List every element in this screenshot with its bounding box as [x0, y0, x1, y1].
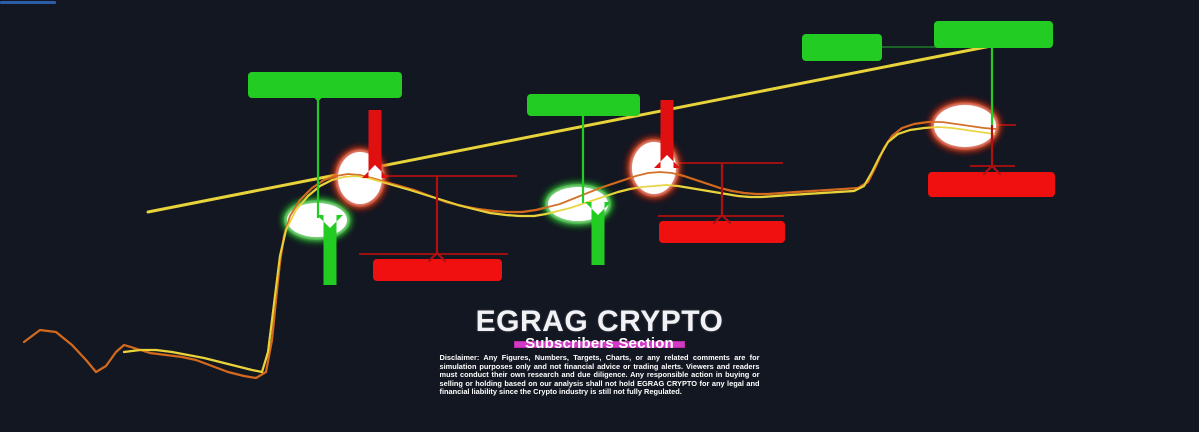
price-line-overlay-price [24, 122, 996, 378]
red-stop-box-1 [373, 259, 502, 281]
chart-canvas: EGRAG CRYPTO Subscribers Section Disclai… [0, 0, 1199, 432]
price-line-price [24, 122, 996, 378]
up-arrow-measure-1 [310, 92, 326, 218]
down-arrow-measure-1 [429, 176, 445, 261]
price-line-moving-average [124, 127, 994, 372]
red-stop-box-2 [659, 221, 785, 243]
annotated-price-chart [0, 0, 1199, 432]
price-line-overlay-moving-average [124, 127, 994, 372]
price-series-group [24, 122, 996, 378]
red-stop-box-3 [928, 172, 1055, 197]
signal-markers-group [24, 102, 999, 378]
green-target-box-3 [802, 34, 882, 61]
green-target-box-2 [527, 94, 640, 116]
